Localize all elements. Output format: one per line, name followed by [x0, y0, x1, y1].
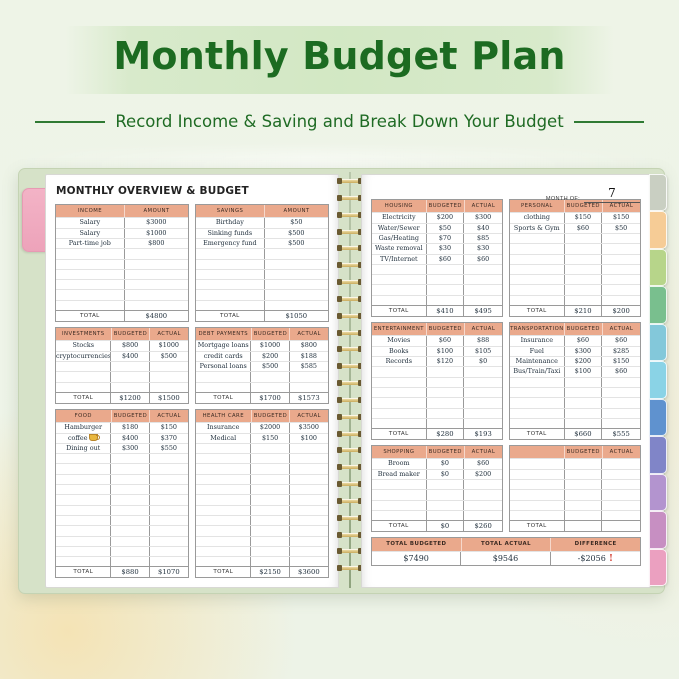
data-cell[interactable]: [111, 475, 149, 484]
table-row[interactable]: [196, 474, 328, 484]
month-of-field[interactable]: MONTH OF: 7: [546, 184, 640, 203]
table-row[interactable]: [510, 500, 640, 510]
data-cell[interactable]: [565, 501, 603, 510]
data-cell[interactable]: $3500: [290, 423, 328, 432]
table-row[interactable]: [56, 474, 188, 484]
table-row[interactable]: [510, 377, 640, 387]
data-cell[interactable]: [464, 388, 502, 397]
table-row[interactable]: Maintenance$200$150: [510, 356, 640, 366]
table-row[interactable]: [196, 443, 328, 453]
data-cell[interactable]: [150, 526, 188, 535]
data-cell[interactable]: [196, 290, 265, 299]
data-cell[interactable]: [196, 475, 251, 484]
total-cell[interactable]: TOTAL: [372, 306, 427, 316]
table-row[interactable]: Birthday$50: [196, 217, 328, 227]
table-row[interactable]: [196, 259, 328, 269]
data-cell[interactable]: Fuel: [510, 347, 565, 356]
data-cell[interactable]: [251, 475, 289, 484]
table-row[interactable]: [56, 248, 188, 258]
data-cell[interactable]: $500: [265, 229, 328, 238]
data-cell[interactable]: $88: [464, 336, 502, 345]
total-cell[interactable]: $660: [565, 429, 603, 439]
data-cell[interactable]: $1000: [150, 341, 188, 350]
data-cell[interactable]: $800: [125, 239, 188, 248]
data-cell[interactable]: $0: [464, 357, 502, 366]
total-cell[interactable]: $1050: [265, 311, 328, 321]
table-row[interactable]: [196, 279, 328, 289]
data-cell[interactable]: Sinking funds: [196, 229, 265, 238]
data-cell[interactable]: [150, 537, 188, 546]
data-cell[interactable]: [56, 506, 111, 515]
data-cell[interactable]: [510, 480, 565, 489]
data-cell[interactable]: [265, 249, 328, 258]
data-cell[interactable]: [111, 383, 149, 392]
data-cell[interactable]: Salary: [56, 229, 125, 238]
data-cell[interactable]: [290, 557, 328, 566]
difference-value[interactable]: -$2056 !: [551, 552, 640, 565]
table-row[interactable]: Hamburger$180$150: [56, 422, 188, 432]
data-cell[interactable]: $60: [464, 255, 502, 264]
summary-value[interactable]: $7490: [372, 552, 461, 565]
data-cell[interactable]: [150, 372, 188, 381]
data-cell[interactable]: Broom: [372, 459, 427, 468]
table-row[interactable]: [56, 556, 188, 566]
table-row[interactable]: [196, 484, 328, 494]
data-cell[interactable]: [150, 506, 188, 515]
data-cell[interactable]: [372, 480, 427, 489]
table-row[interactable]: [372, 418, 502, 428]
table-row[interactable]: [372, 500, 502, 510]
data-cell[interactable]: [251, 526, 289, 535]
data-cell[interactable]: [602, 388, 640, 397]
data-cell[interactable]: [602, 275, 640, 284]
data-cell[interactable]: $0: [427, 459, 465, 468]
table-row[interactable]: [510, 458, 640, 468]
table-row[interactable]: [196, 289, 328, 299]
table-row[interactable]: [372, 479, 502, 489]
data-cell[interactable]: [464, 490, 502, 499]
table-row[interactable]: [56, 525, 188, 535]
data-cell[interactable]: $60: [602, 336, 640, 345]
data-cell[interactable]: Insurance: [196, 423, 251, 432]
total-cell[interactable]: TOTAL: [196, 567, 251, 577]
data-cell[interactable]: [565, 285, 603, 294]
table-total-row[interactable]: TOTAL$210$200: [510, 305, 640, 316]
data-cell[interactable]: [565, 296, 603, 305]
data-cell[interactable]: [150, 547, 188, 556]
data-cell[interactable]: $200: [464, 470, 502, 479]
data-cell[interactable]: [427, 398, 465, 407]
data-cell[interactable]: [510, 470, 565, 479]
data-cell[interactable]: Sports & Gym: [510, 224, 565, 233]
data-cell[interactable]: [602, 480, 640, 489]
data-cell[interactable]: [510, 255, 565, 264]
data-cell[interactable]: [602, 409, 640, 418]
data-cell[interactable]: [56, 475, 111, 484]
index-tab-indigo[interactable]: [649, 436, 667, 473]
table-row[interactable]: [510, 264, 640, 274]
table-row[interactable]: [510, 233, 640, 243]
data-cell[interactable]: [196, 301, 265, 310]
total-cell[interactable]: TOTAL: [510, 521, 565, 531]
data-cell[interactable]: [602, 265, 640, 274]
table-row[interactable]: [56, 546, 188, 556]
data-cell[interactable]: [602, 234, 640, 243]
data-cell[interactable]: [464, 409, 502, 418]
table-total-row[interactable]: TOTAL: [510, 520, 640, 531]
table-row[interactable]: [510, 469, 640, 479]
data-cell[interactable]: $30: [464, 244, 502, 253]
data-cell[interactable]: Books: [372, 347, 427, 356]
table-total-row[interactable]: TOTAL$1700$1573: [196, 392, 328, 403]
data-cell[interactable]: $2000: [251, 423, 289, 432]
data-cell[interactable]: [427, 388, 465, 397]
data-cell[interactable]: [111, 547, 149, 556]
data-cell[interactable]: $400: [111, 352, 149, 361]
data-cell[interactable]: [251, 485, 289, 494]
data-cell[interactable]: [196, 495, 251, 504]
data-cell[interactable]: [196, 444, 251, 453]
table-row[interactable]: [196, 505, 328, 515]
data-cell[interactable]: coffee: [56, 434, 111, 443]
table-row[interactable]: Part-time job$800: [56, 238, 188, 248]
table-row[interactable]: [372, 377, 502, 387]
total-cell[interactable]: $193: [464, 429, 502, 439]
data-cell[interactable]: $150: [602, 213, 640, 222]
table-row[interactable]: [196, 546, 328, 556]
data-cell[interactable]: [510, 501, 565, 510]
data-cell[interactable]: [265, 280, 328, 289]
data-cell[interactable]: [290, 464, 328, 473]
index-tab-blue[interactable]: [649, 399, 667, 436]
index-tab-purple[interactable]: [649, 474, 667, 511]
table-row[interactable]: [56, 371, 188, 381]
data-cell[interactable]: [111, 537, 149, 546]
table-row[interactable]: Sinking funds$500: [196, 228, 328, 238]
data-cell[interactable]: [251, 516, 289, 525]
table-row[interactable]: [510, 418, 640, 428]
table-row[interactable]: [196, 453, 328, 463]
data-cell[interactable]: [56, 372, 111, 381]
table-row[interactable]: [510, 489, 640, 499]
total-cell[interactable]: [602, 521, 640, 531]
table-total-row[interactable]: TOTAL$1050: [196, 310, 328, 321]
data-cell[interactable]: Stocks: [56, 341, 111, 350]
table-row[interactable]: Water/Sewer$50$40: [372, 223, 502, 233]
table-row[interactable]: Dining out$300$550: [56, 443, 188, 453]
data-cell[interactable]: $50: [265, 218, 328, 227]
data-cell[interactable]: [290, 506, 328, 515]
data-cell[interactable]: [56, 557, 111, 566]
data-cell[interactable]: [602, 296, 640, 305]
data-cell[interactable]: [565, 409, 603, 418]
data-cell[interactable]: [427, 480, 465, 489]
data-cell[interactable]: [372, 367, 427, 376]
data-cell[interactable]: $200: [251, 352, 289, 361]
table-row[interactable]: [56, 453, 188, 463]
data-cell[interactable]: $85: [464, 234, 502, 243]
data-cell[interactable]: [565, 511, 603, 520]
data-cell[interactable]: [565, 490, 603, 499]
total-cell[interactable]: $200: [602, 306, 640, 316]
total-cell[interactable]: $1200: [111, 393, 149, 403]
data-cell[interactable]: $285: [602, 347, 640, 356]
data-cell[interactable]: $60: [565, 336, 603, 345]
data-cell[interactable]: $60: [565, 224, 603, 233]
data-cell[interactable]: $60: [464, 459, 502, 468]
table-row[interactable]: [196, 371, 328, 381]
data-cell[interactable]: $150: [251, 434, 289, 443]
table-total-row[interactable]: TOTAL$660$555: [510, 428, 640, 439]
data-cell[interactable]: [602, 490, 640, 499]
data-cell[interactable]: [372, 285, 427, 294]
data-cell[interactable]: [290, 383, 328, 392]
data-cell[interactable]: [196, 260, 265, 269]
data-cell[interactable]: $50: [427, 224, 465, 233]
data-cell[interactable]: [602, 501, 640, 510]
data-cell[interactable]: [372, 511, 427, 520]
data-cell[interactable]: Gas/Heating: [372, 234, 427, 243]
data-cell[interactable]: [602, 459, 640, 468]
table-row[interactable]: Personal loans$500$585: [196, 361, 328, 371]
table-row[interactable]: [372, 510, 502, 520]
data-cell[interactable]: $370: [150, 434, 188, 443]
table-row[interactable]: [510, 243, 640, 253]
data-cell[interactable]: $400: [111, 434, 149, 443]
table-row[interactable]: [196, 556, 328, 566]
data-cell[interactable]: Medical: [196, 434, 251, 443]
data-cell[interactable]: [251, 454, 289, 463]
data-cell[interactable]: [251, 506, 289, 515]
data-cell[interactable]: $180: [111, 423, 149, 432]
data-cell[interactable]: [56, 280, 125, 289]
data-cell[interactable]: $585: [290, 362, 328, 371]
data-cell[interactable]: [111, 495, 149, 504]
data-cell[interactable]: [464, 265, 502, 274]
data-cell[interactable]: [251, 372, 289, 381]
data-cell[interactable]: [290, 495, 328, 504]
data-cell[interactable]: [150, 383, 188, 392]
data-cell[interactable]: Mortgage loans: [196, 341, 251, 350]
data-cell[interactable]: [510, 388, 565, 397]
data-cell[interactable]: [464, 275, 502, 284]
data-cell[interactable]: [510, 490, 565, 499]
data-cell[interactable]: Maintenance: [510, 357, 565, 366]
table-row[interactable]: [510, 397, 640, 407]
table-row[interactable]: [56, 494, 188, 504]
data-cell[interactable]: $300: [111, 444, 149, 453]
data-cell[interactable]: [290, 537, 328, 546]
data-cell[interactable]: $150: [602, 357, 640, 366]
total-cell[interactable]: TOTAL: [372, 429, 427, 439]
data-cell[interactable]: [565, 388, 603, 397]
data-cell[interactable]: [196, 270, 265, 279]
data-cell[interactable]: [251, 557, 289, 566]
data-cell[interactable]: [464, 398, 502, 407]
data-cell[interactable]: [602, 244, 640, 253]
data-cell[interactable]: [510, 511, 565, 520]
table-row[interactable]: [510, 254, 640, 264]
data-cell[interactable]: $1000: [125, 229, 188, 238]
total-cell[interactable]: $1700: [251, 393, 289, 403]
data-cell[interactable]: Personal loans: [196, 362, 251, 371]
data-cell[interactable]: [565, 470, 603, 479]
data-cell[interactable]: $100: [290, 434, 328, 443]
table-row[interactable]: [56, 382, 188, 392]
data-cell[interactable]: [125, 290, 188, 299]
table-row[interactable]: Electricity$200$300: [372, 212, 502, 222]
total-cell[interactable]: $880: [111, 567, 149, 577]
table-row[interactable]: [372, 408, 502, 418]
index-tab-teal[interactable]: [649, 324, 667, 361]
table-row[interactable]: [196, 515, 328, 525]
table-row[interactable]: Waste removal$30$30: [372, 243, 502, 253]
table-row[interactable]: Movies$60$88: [372, 335, 502, 345]
data-cell[interactable]: [510, 419, 565, 428]
data-cell[interactable]: cryptocurrencies: [56, 352, 111, 361]
index-tab-pink[interactable]: [649, 549, 667, 586]
data-cell[interactable]: [290, 444, 328, 453]
table-row[interactable]: [372, 274, 502, 284]
table-row[interactable]: [56, 269, 188, 279]
table-row[interactable]: [196, 382, 328, 392]
data-cell[interactable]: [464, 285, 502, 294]
data-cell[interactable]: $500: [150, 352, 188, 361]
table-row[interactable]: [56, 463, 188, 473]
data-cell[interactable]: [251, 537, 289, 546]
index-tab-light-blue[interactable]: [649, 361, 667, 398]
data-cell[interactable]: [427, 378, 465, 387]
data-cell[interactable]: Electricity: [372, 213, 427, 222]
data-cell[interactable]: [602, 398, 640, 407]
data-cell[interactable]: [56, 526, 111, 535]
table-row[interactable]: Salary$3000: [56, 217, 188, 227]
data-cell[interactable]: [125, 270, 188, 279]
table-row[interactable]: [196, 269, 328, 279]
data-cell[interactable]: [290, 547, 328, 556]
data-cell[interactable]: [251, 495, 289, 504]
data-cell[interactable]: Insurance: [510, 336, 565, 345]
table-row[interactable]: [372, 295, 502, 305]
data-cell[interactable]: Waste removal: [372, 244, 427, 253]
data-cell[interactable]: [372, 388, 427, 397]
data-cell[interactable]: [510, 296, 565, 305]
table-total-row[interactable]: TOTAL$1200$1500: [56, 392, 188, 403]
data-cell[interactable]: [510, 398, 565, 407]
table-row[interactable]: coffee$400$370: [56, 433, 188, 443]
total-cell[interactable]: $280: [427, 429, 465, 439]
table-row[interactable]: Books$100$105: [372, 346, 502, 356]
index-tab-gray[interactable]: [649, 174, 667, 211]
data-cell[interactable]: [265, 290, 328, 299]
table-row[interactable]: [372, 489, 502, 499]
data-cell[interactable]: [372, 419, 427, 428]
data-cell[interactable]: $40: [464, 224, 502, 233]
data-cell[interactable]: [510, 409, 565, 418]
data-cell[interactable]: $70: [427, 234, 465, 243]
data-cell[interactable]: [510, 244, 565, 253]
data-cell[interactable]: $188: [290, 352, 328, 361]
table-row[interactable]: [56, 484, 188, 494]
index-tab-orange[interactable]: [649, 211, 667, 248]
data-cell[interactable]: $100: [427, 347, 465, 356]
data-cell[interactable]: [602, 378, 640, 387]
data-cell[interactable]: [427, 501, 465, 510]
table-row[interactable]: [372, 366, 502, 376]
total-cell[interactable]: TOTAL: [196, 393, 251, 403]
total-cell[interactable]: TOTAL: [56, 311, 125, 321]
table-row[interactable]: Fuel$300$285: [510, 346, 640, 356]
table-row[interactable]: [510, 284, 640, 294]
data-cell[interactable]: $1000: [251, 341, 289, 350]
data-cell[interactable]: Bread maker: [372, 470, 427, 479]
data-cell[interactable]: [125, 249, 188, 258]
data-cell[interactable]: [150, 485, 188, 494]
data-cell[interactable]: [565, 398, 603, 407]
data-cell[interactable]: [56, 547, 111, 556]
data-cell[interactable]: $150: [565, 213, 603, 222]
total-cell[interactable]: TOTAL: [56, 393, 111, 403]
table-row[interactable]: [510, 274, 640, 284]
data-cell[interactable]: [464, 419, 502, 428]
data-cell[interactable]: [196, 485, 251, 494]
data-cell[interactable]: [464, 501, 502, 510]
total-cell[interactable]: TOTAL: [510, 306, 565, 316]
data-cell[interactable]: [196, 372, 251, 381]
data-cell[interactable]: [150, 464, 188, 473]
table-row[interactable]: Bus/Train/Taxi$100$60: [510, 366, 640, 376]
data-cell[interactable]: [427, 275, 465, 284]
total-cell[interactable]: $1500: [150, 393, 188, 403]
data-cell[interactable]: [111, 372, 149, 381]
data-cell[interactable]: [464, 367, 502, 376]
table-row[interactable]: Insurance$60$60: [510, 335, 640, 345]
table-row[interactable]: [56, 289, 188, 299]
data-cell[interactable]: $500: [265, 239, 328, 248]
data-cell[interactable]: $150: [150, 423, 188, 432]
data-cell[interactable]: [196, 547, 251, 556]
index-tab-green[interactable]: [649, 286, 667, 323]
data-cell[interactable]: [251, 444, 289, 453]
table-row[interactable]: [196, 494, 328, 504]
table-row[interactable]: [56, 505, 188, 515]
data-cell[interactable]: $60: [427, 336, 465, 345]
data-cell[interactable]: $800: [111, 341, 149, 350]
total-cell[interactable]: $3600: [290, 567, 328, 577]
data-cell[interactable]: [602, 470, 640, 479]
data-cell[interactable]: [265, 270, 328, 279]
data-cell[interactable]: $300: [464, 213, 502, 222]
data-cell[interactable]: [510, 234, 565, 243]
data-cell[interactable]: Bus/Train/Taxi: [510, 367, 565, 376]
data-cell[interactable]: [56, 495, 111, 504]
table-row[interactable]: [56, 279, 188, 289]
data-cell[interactable]: [150, 362, 188, 371]
data-cell[interactable]: [150, 454, 188, 463]
data-cell[interactable]: [427, 285, 465, 294]
data-cell[interactable]: [111, 516, 149, 525]
table-row[interactable]: Bread maker$0$200: [372, 469, 502, 479]
data-cell[interactable]: clothing: [510, 213, 565, 222]
data-cell[interactable]: $60: [427, 255, 465, 264]
data-cell[interactable]: [372, 398, 427, 407]
table-row[interactable]: [56, 515, 188, 525]
table-row[interactable]: [510, 510, 640, 520]
table-total-row[interactable]: TOTAL$0$260: [372, 520, 502, 531]
data-cell[interactable]: [196, 454, 251, 463]
data-cell[interactable]: [150, 495, 188, 504]
data-cell[interactable]: Records: [372, 357, 427, 366]
